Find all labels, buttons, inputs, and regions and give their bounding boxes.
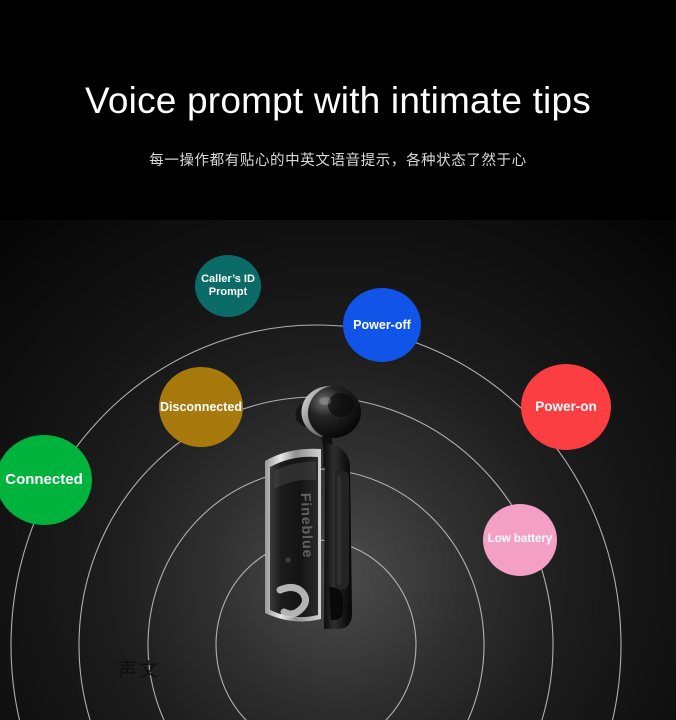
promo-stage: Voice prompt with intimate tips 每一操作都有贴心… bbox=[0, 0, 676, 720]
watermark: 声文 bbox=[118, 655, 160, 682]
status-bubble-disconnected[interactable]: Disconnected bbox=[159, 367, 243, 447]
status-bubble-power-off[interactable]: Power-off bbox=[343, 288, 421, 362]
status-bubble-label: Low battery bbox=[484, 533, 557, 547]
status-bubble-label: Disconnected bbox=[156, 400, 246, 415]
status-bubble-label: Power-on bbox=[531, 399, 601, 415]
status-bubble-low-battery[interactable]: Low battery bbox=[483, 504, 557, 576]
status-bubble-connected[interactable]: Connected bbox=[0, 435, 92, 525]
product-image: Fineblue bbox=[247, 375, 387, 630]
status-bubble-caller-id-prompt[interactable]: Caller’s IDPrompt bbox=[195, 255, 261, 317]
status-bubble-label: Connected bbox=[1, 471, 87, 489]
status-bubble-power-on[interactable]: Power-on bbox=[521, 364, 611, 450]
header: Voice prompt with intimate tips 每一操作都有贴心… bbox=[0, 0, 676, 170]
status-bubble-label: Caller’s IDPrompt bbox=[197, 273, 259, 299]
led-dot bbox=[285, 557, 290, 562]
status-bubble-label: Power-off bbox=[349, 318, 415, 333]
clip-arm bbox=[324, 443, 352, 629]
page-title: Voice prompt with intimate tips bbox=[0, 80, 676, 123]
brand-label: Fineblue bbox=[298, 493, 316, 559]
page-subtitle: 每一操作都有贴心的中英文语音提示，各种状态了然于心 bbox=[0, 149, 676, 170]
